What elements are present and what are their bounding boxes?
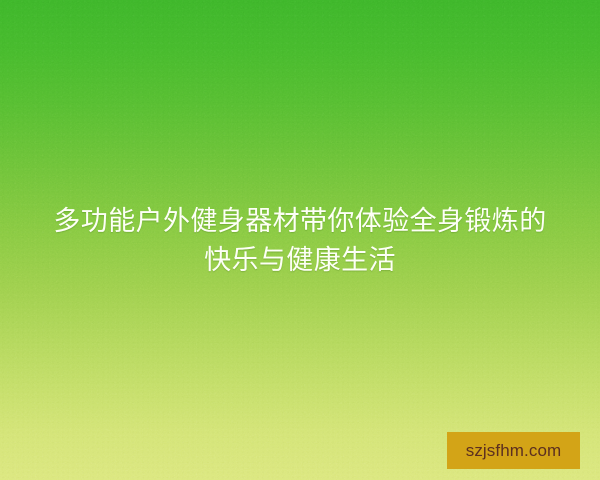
headline-line-1: 多功能户外健身器材带你体验全身锻炼的 (0, 202, 600, 241)
headline-line-2: 快乐与健康生活 (0, 241, 600, 280)
watermark-badge: szjsfhm.com (447, 432, 580, 469)
banner-image: 多功能户外健身器材带你体验全身锻炼的 快乐与健康生活 szjsfhm.com (0, 0, 600, 480)
watermark-label: szjsfhm.com (466, 442, 562, 459)
page-title: 多功能户外健身器材带你体验全身锻炼的 快乐与健康生活 (0, 202, 600, 280)
